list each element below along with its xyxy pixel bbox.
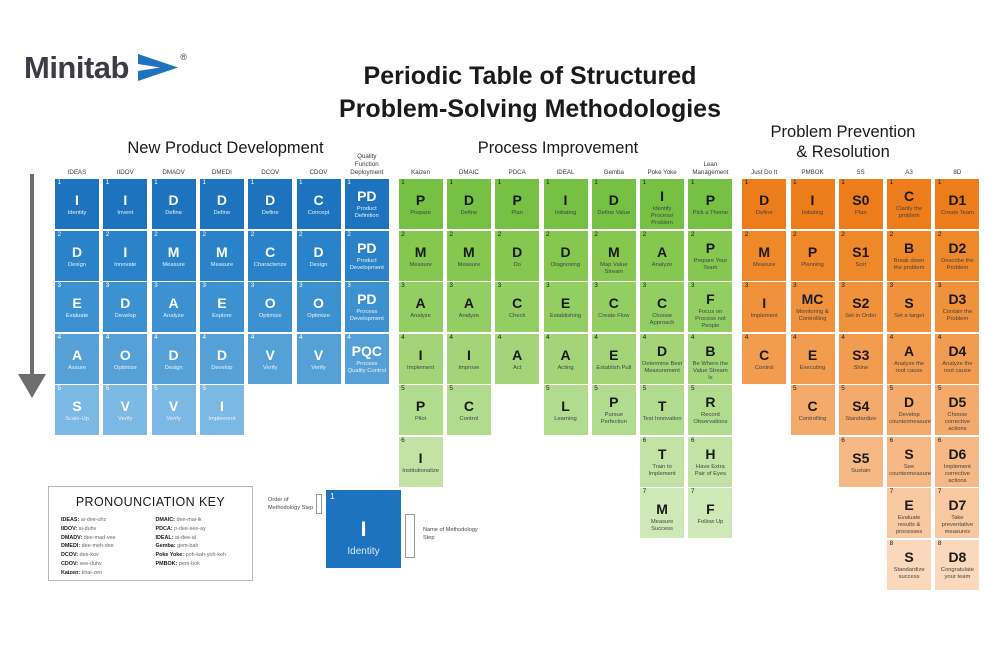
cell-step-name: Analyze <box>449 313 489 320</box>
cell-symbol: A <box>889 344 929 358</box>
pronunciation-term: DMEDI: <box>61 543 80 549</box>
methodology-cell[interactable]: 3AAnalyze <box>447 282 491 332</box>
pronunciation-term: PMBOK: <box>156 561 178 567</box>
cell-step-number: 3 <box>251 283 255 290</box>
cell-symbol: A <box>642 245 682 259</box>
cell-symbol: R <box>690 395 730 409</box>
methodology-cell[interactable]: 2DDo <box>495 231 539 281</box>
cell-step-name: Define Value <box>594 210 634 217</box>
cell-symbol: E <box>546 296 586 310</box>
cell-step-name: Design <box>154 365 194 372</box>
cell-symbol: I <box>57 193 97 207</box>
cell-symbol: M <box>154 245 194 259</box>
methodology-cell[interactable]: 5VVerify <box>152 385 196 435</box>
pronunciation-phonetic: gem-bah <box>176 543 199 549</box>
cell-step-number: 2 <box>890 232 894 239</box>
cell-step-number: 8 <box>890 541 894 548</box>
cell-step-number: 5 <box>154 386 158 393</box>
methodology-cell[interactable]: 7EEvaluate results & processes <box>887 488 931 538</box>
methodology-cell[interactable]: 2MMeasure <box>152 231 196 281</box>
methodology-cell[interactable]: 4AAct <box>495 334 539 384</box>
cell-step-number: 6 <box>938 438 942 445</box>
cell-step-number: 5 <box>938 386 942 393</box>
cell-step-name: Sort <box>841 262 881 269</box>
methodology-cell[interactable]: 1IIdentify Process/ Problem <box>640 179 684 229</box>
methodology-cell[interactable]: 6IInstitutionalize <box>399 437 443 487</box>
cell-step-name: Verify <box>250 365 290 372</box>
cell-step-name: Test Innovation <box>642 416 682 423</box>
methodology-cell[interactable]: 2DDiagnosing <box>544 231 588 281</box>
cell-step-number: 2 <box>745 232 749 239</box>
cell-step-name: Institutionalize <box>401 468 441 475</box>
cell-symbol: D <box>889 395 929 409</box>
methodology-column-a3: A31CClarify the problem2BBreak down the … <box>887 157 931 591</box>
column-cells: 1IIdentify Process/ Problem2AAnalyze3CCh… <box>640 179 684 540</box>
cell-symbol: L <box>546 399 586 413</box>
cell-step-number: 4 <box>546 335 550 342</box>
column-header: CDOV <box>297 157 341 179</box>
methodology-cell[interactable]: 1DDefine <box>200 179 244 229</box>
methodology-cell[interactable]: 2BBreak down the problem <box>887 231 931 281</box>
cell-step-name: Executing <box>793 365 833 372</box>
methodology-cell[interactable]: 3OOptimize <box>248 282 292 332</box>
cell-step-name: Standardize success <box>889 567 929 581</box>
cell-step-number: 5 <box>793 386 797 393</box>
methodology-cell[interactable]: 1PDProduct Definition <box>345 179 389 229</box>
cell-symbol: D4 <box>937 344 977 358</box>
methodology-cell[interactable]: 6D6Implement corrective actions <box>935 437 979 487</box>
cell-symbol: S <box>889 550 929 564</box>
methodology-cell[interactable]: 1IInitiating <box>544 179 588 229</box>
column-header: 5S <box>839 157 883 179</box>
methodology-cell[interactable]: 4BBe Where the Value Stream Is <box>688 334 732 384</box>
cell-step-name: Design <box>299 262 339 269</box>
methodology-cell[interactable]: 3CCheck <box>495 282 539 332</box>
methodology-column-dmaic: DMAIC1DDefine2MMeasure3AAnalyze4IImprove… <box>447 157 491 437</box>
legend-sample-cell: 1 I Identity <box>326 490 401 568</box>
methodology-cell[interactable]: 2PPrepare Your Team <box>688 231 732 281</box>
cell-step-name: Pursue Perfection <box>594 412 634 426</box>
methodology-cell[interactable]: 3DDevelop <box>103 282 147 332</box>
methodology-cell[interactable]: 4CControl <box>742 334 786 384</box>
methodology-cell[interactable]: 4AAssure <box>55 334 99 384</box>
pronunciation-row: DMADV: dee-mad-vee <box>61 534 146 543</box>
column-header: DMEDI <box>200 157 244 179</box>
methodology-cell[interactable]: 1DDefine <box>742 179 786 229</box>
methodology-cell[interactable]: 5TTest Innovation <box>640 385 684 435</box>
cell-step-number: 7 <box>938 489 942 496</box>
column-header: PMBOK <box>791 157 835 179</box>
cell-step-name: Invent <box>105 210 145 217</box>
cell-symbol: V <box>299 348 339 362</box>
cell-symbol: S1 <box>841 245 881 259</box>
methodology-cell[interactable]: 2AAnalyze <box>640 231 684 281</box>
methodology-cell[interactable]: 5PPursue Perfection <box>592 385 636 435</box>
column-cells: 1DDefine2CCharacterize3OOptimize4VVerify <box>248 179 292 385</box>
methodology-cell[interactable]: 5LLearning <box>544 385 588 435</box>
cell-step-number: 3 <box>890 283 894 290</box>
cell-step-number: 1 <box>745 180 749 187</box>
arrow-head <box>18 374 46 398</box>
cell-symbol: PD <box>347 292 387 306</box>
methodology-column-dmadv: DMADV1DDefine2MMeasure3AAnalyze4DDesign5… <box>152 157 196 437</box>
cell-step-name: Define <box>202 210 242 217</box>
methodology-cell[interactable]: 7FFollow Up <box>688 488 732 538</box>
cell-step-number: 2 <box>449 232 453 239</box>
methodology-cell[interactable]: 1S0Plan <box>839 179 883 229</box>
methodology-cell[interactable]: 4EEstablish Pull <box>592 334 636 384</box>
cell-symbol: P <box>793 245 833 259</box>
methodology-cell[interactable]: 3EExplore <box>200 282 244 332</box>
methodology-cell[interactable]: 7MMeasure Success <box>640 488 684 538</box>
methodology-cell[interactable]: 1CClarify the problem <box>887 179 931 229</box>
methodology-cell[interactable]: 1PPlan <box>495 179 539 229</box>
cell-step-number: 1 <box>154 180 158 187</box>
cell-step-name: Control <box>449 416 489 423</box>
cell-step-name: Take preventative measures <box>937 515 977 536</box>
methodology-cell[interactable]: 6TTrain to Implement <box>640 437 684 487</box>
cell-step-name: Design <box>57 262 97 269</box>
methodology-cell[interactable]: 1IIdentity <box>55 179 99 229</box>
cell-step-number: 4 <box>691 335 695 342</box>
cell-symbol: D <box>105 296 145 310</box>
column-header: A3 <box>887 157 931 179</box>
cell-step-name: Process Quality Control <box>347 361 387 375</box>
methodology-cell[interactable]: 4VVerify <box>297 334 341 384</box>
cell-symbol: C <box>449 399 489 413</box>
cell-step-name: Clarify the problem <box>889 206 929 220</box>
methodology-cell[interactable]: 4EExecuting <box>791 334 835 384</box>
methodology-cell[interactable]: 1IInvent <box>103 179 147 229</box>
pronunciation-phonetic: poh-kah-yoh-keh <box>184 552 226 558</box>
methodology-column-cdov: CDOV1CConcept2DDesign3OOptimize4VVerify <box>297 157 341 385</box>
cell-symbol: D <box>449 193 489 207</box>
methodology-cell[interactable]: 1DDefine <box>248 179 292 229</box>
column-cells: 1DDefine2MMeasure3IImplement4CControl <box>742 179 786 385</box>
cell-step-name: Controlling <box>793 416 833 423</box>
cell-step-name: Analyze the root cause <box>937 361 977 375</box>
cell-step-number: 3 <box>691 283 695 290</box>
cell-step-name: Analyze <box>154 313 194 320</box>
methodology-cell[interactable]: 2DDesign <box>297 231 341 281</box>
methodology-cell[interactable]: 5CControlling <box>791 385 835 435</box>
cell-symbol: PD <box>347 241 387 255</box>
cell-step-name: Do <box>497 262 537 269</box>
methodology-column-pmbok: PMBOK1IInitiating2PPlanning3MCMonitoring… <box>791 157 835 437</box>
cell-step-number: 5 <box>106 386 110 393</box>
methodology-column-dmedi: DMEDI1DDefine2MMeasure3EExplore4DDevelop… <box>200 157 244 437</box>
cell-step-name: Develop <box>202 365 242 372</box>
methodology-cell[interactable]: 5RRecord Observations <box>688 385 732 435</box>
methodology-cell[interactable]: 1DDefine Value <box>592 179 636 229</box>
methodology-cell[interactable]: 5DDevelop countermeasures <box>887 385 931 435</box>
cell-symbol: H <box>690 447 730 461</box>
page-title-line2: Problem-Solving Methodologies <box>330 93 730 126</box>
cell-step-name: Train to Implement <box>642 464 682 478</box>
column-cells: 1DDefine2MMeasure3AAnalyze4DDesign5VVeri… <box>152 179 196 437</box>
cell-symbol: MC <box>793 292 833 306</box>
down-arrow-icon <box>18 174 46 398</box>
methodology-cell[interactable]: 2MMeasure <box>399 231 443 281</box>
column-header: Quality Function Deployment <box>345 157 389 179</box>
methodology-cell[interactable]: 4S3Shine <box>839 334 883 384</box>
methodology-cell[interactable]: 1PPrepare <box>399 179 443 229</box>
cell-step-name: Prepare Your Team <box>690 258 730 272</box>
cell-symbol: A <box>57 348 97 362</box>
methodology-column-5s: 5S1S0Plan2S1Sort3S2Set in Order4S3Shine5… <box>839 157 883 488</box>
section-heading-process-improvement: Process Improvement <box>393 138 723 158</box>
methodology-cell[interactable]: 6S5Sustain <box>839 437 883 487</box>
cell-step-number: 7 <box>691 489 695 496</box>
methodology-column-just-do-it: Just Do It1DDefine2MMeasure3IImplement4C… <box>742 157 786 385</box>
methodology-cell[interactable]: 3PDProcess Development <box>345 282 389 332</box>
cell-step-name: Act <box>497 365 537 372</box>
cell-symbol: S3 <box>841 348 881 362</box>
cell-symbol: P <box>497 193 537 207</box>
methodology-cell[interactable]: 2MMeasure <box>447 231 491 281</box>
methodology-cell[interactable]: 3CCreate Flow <box>592 282 636 332</box>
methodology-cell[interactable]: 3IImplement <box>742 282 786 332</box>
cell-symbol: D <box>57 245 97 259</box>
minitab-logo: Minitab ® <box>24 52 178 83</box>
methodology-cell[interactable]: 3EEstablishing <box>544 282 588 332</box>
cell-step-name: Plan <box>497 210 537 217</box>
cell-step-name: Set a target <box>889 313 929 320</box>
cell-symbol: S <box>889 447 929 461</box>
cell-step-number: 3 <box>58 283 62 290</box>
cell-step-name: Optimize <box>250 313 290 320</box>
cell-step-name: Implement corrective actions <box>937 464 977 485</box>
cell-step-number: 2 <box>106 232 110 239</box>
cell-step-name: Verify <box>299 365 339 372</box>
column-cells: 1PDProduct Definition2PDProduct Developm… <box>345 179 389 385</box>
legend-name-label: Name of Methodology Step <box>423 526 479 542</box>
methodology-cell[interactable]: 1D1Create Team <box>935 179 979 229</box>
methodology-cell[interactable]: 6HHave Extra Pair of Eyes <box>688 437 732 487</box>
column-cells: 1DDefine2MMeasure3AAnalyze4IImprove5CCon… <box>447 179 491 437</box>
methodology-cell[interactable]: 2MMap Value Stream <box>592 231 636 281</box>
cell-step-name: Contain the Problem <box>937 309 977 323</box>
pronunciation-row: IIDOV: ai-duhv <box>61 525 146 534</box>
cell-step-name: Sustain <box>841 468 881 475</box>
methodology-cell[interactable]: 2PDProduct Development <box>345 231 389 281</box>
cell-symbol: PQC <box>347 344 387 358</box>
methodology-cell[interactable]: 5SScale-Up <box>55 385 99 435</box>
methodology-cell[interactable]: 3FFocus on Process not People <box>688 282 732 332</box>
cell-step-name: Learning <box>546 416 586 423</box>
methodology-cell[interactable]: 5CControl <box>447 385 491 435</box>
cell-symbol: S <box>57 399 97 413</box>
cell-step-number: 2 <box>841 232 845 239</box>
cell-step-name: Optimize <box>299 313 339 320</box>
cell-step-number: 3 <box>643 283 647 290</box>
cell-step-name: Be Where the Value Stream Is <box>690 361 730 382</box>
cell-symbol: A <box>154 296 194 310</box>
methodology-cell[interactable]: 6SSee countermeasures <box>887 437 931 487</box>
pronunciation-row: PDCA: p-dee-see-ay <box>156 525 241 534</box>
cell-symbol: I <box>105 193 145 207</box>
cell-symbol: M <box>744 245 784 259</box>
cell-step-number: 4 <box>299 335 303 342</box>
methodology-cell[interactable]: 4VVerify <box>248 334 292 384</box>
methodology-cell[interactable]: 4PQCProcess Quality Control <box>345 334 389 384</box>
methodology-cell[interactable]: 3OOptimize <box>297 282 341 332</box>
cell-step-number: 1 <box>202 180 206 187</box>
cell-symbol: C <box>642 296 682 310</box>
pronunciation-row: Poke Yoke: poh-kah-yoh-keh <box>156 551 241 560</box>
cell-symbol: D <box>299 245 339 259</box>
cell-step-name: Concept <box>299 210 339 217</box>
section-heading-ppr-line1: Problem Prevention <box>718 122 968 142</box>
cell-step-number: 1 <box>251 180 255 187</box>
methodology-cell[interactable]: 7D7Take preventative measures <box>935 488 979 538</box>
column-header: IDEAL <box>544 157 588 179</box>
methodology-cell[interactable]: 1PPick a Theme <box>688 179 732 229</box>
column-header: DMAIC <box>447 157 491 179</box>
cell-step-number: 1 <box>793 180 797 187</box>
methodology-cell[interactable]: 4DDetermine Best Measurement <box>640 334 684 384</box>
methodology-cell[interactable]: 2IInnovate <box>103 231 147 281</box>
cell-step-name: Verify <box>105 416 145 423</box>
cell-step-number: 2 <box>154 232 158 239</box>
cell-step-number: 4 <box>449 335 453 342</box>
methodology-cell[interactable]: 3D3Contain the Problem <box>935 282 979 332</box>
methodology-cell[interactable]: 3SSet a target <box>887 282 931 332</box>
methodology-cell[interactable]: 1CConcept <box>297 179 341 229</box>
cell-symbol: D <box>497 245 537 259</box>
cell-step-number: 1 <box>890 180 894 187</box>
cell-symbol: S5 <box>841 451 881 465</box>
pronunciation-phonetic: dee-kov <box>78 552 99 558</box>
column-cells: 1S0Plan2S1Sort3S2Set in Order4S3Shine5S4… <box>839 179 883 488</box>
methodology-cell[interactable]: 4OOptimize <box>103 334 147 384</box>
methodology-cell[interactable]: 2DDesign <box>55 231 99 281</box>
methodology-cell[interactable]: 2D2Describe the Problem <box>935 231 979 281</box>
cell-step-name: Implement <box>202 416 242 423</box>
cell-symbol: V <box>154 399 194 413</box>
pronunciation-phonetic: khai-zen <box>80 570 102 576</box>
methodology-cell[interactable]: 5D5Choose corrective actions <box>935 385 979 435</box>
column-cells: 1D1Create Team2D2Describe the Problem3D3… <box>935 179 979 591</box>
cell-step-number: 4 <box>251 335 255 342</box>
cell-step-number: 5 <box>546 386 550 393</box>
methodology-cell[interactable]: 2MMeasure <box>200 231 244 281</box>
pronunciation-phonetic: ai-dee-al <box>173 535 195 541</box>
column-cells: 1DDefine Value2MMap Value Stream3CCreate… <box>592 179 636 437</box>
methodology-cell[interactable]: 4D4Analyze the root cause <box>935 334 979 384</box>
methodology-cell[interactable]: 3AAnalyze <box>152 282 196 332</box>
cell-step-number: 5 <box>643 386 647 393</box>
methodology-cell[interactable]: 1DDefine <box>152 179 196 229</box>
methodology-cell[interactable]: 3AAnalyze <box>399 282 443 332</box>
methodology-cell[interactable]: 4IImplement <box>399 334 443 384</box>
cell-step-number: 5 <box>841 386 845 393</box>
methodology-cell[interactable]: 4AAnalyze the root cause <box>887 334 931 384</box>
methodology-cell[interactable]: 3S2Set in Order <box>839 282 883 332</box>
methodology-cell[interactable]: 8SStandardize success <box>887 540 931 590</box>
methodology-cell[interactable]: 2MMeasure <box>742 231 786 281</box>
cell-step-number: 4 <box>841 335 845 342</box>
methodology-cell[interactable]: 4AActing <box>544 334 588 384</box>
cell-symbol: M <box>449 245 489 259</box>
pronunciation-term: PDCA: <box>156 526 173 532</box>
cell-step-name: Identify Process/ Problem <box>642 206 682 227</box>
cell-step-number: 2 <box>546 232 550 239</box>
column-cells: 1IIdentity2DDesign3EEvaluate4AAssure5SSc… <box>55 179 99 437</box>
pronunciation-phonetic: dee-mai-ik <box>175 517 202 523</box>
methodology-cell[interactable]: 2CCharacterize <box>248 231 292 281</box>
methodology-cell[interactable]: 5VVerify <box>103 385 147 435</box>
cell-step-number: 4 <box>643 335 647 342</box>
column-cells: 1DDefine2MMeasure3EExplore4DDevelop5IImp… <box>200 179 244 437</box>
methodology-column-ideas: IDEAS1IIdentity2DDesign3EEvaluate4AAssur… <box>55 157 99 437</box>
cell-step-name: Analyze <box>642 262 682 269</box>
methodology-cell[interactable]: 5PPilot <box>399 385 443 435</box>
cell-step-number: 2 <box>299 232 303 239</box>
cell-symbol: E <box>202 296 242 310</box>
cell-step-name: Control <box>744 365 784 372</box>
cell-step-number: 4 <box>793 335 797 342</box>
cell-step-number: 2 <box>202 232 206 239</box>
pronunciation-row: IDEAL: ai-dee-al <box>156 534 241 543</box>
cell-step-number: 6 <box>691 438 695 445</box>
column-cells: 1IInvent2IInnovate3DDevelop4OOptimize5VV… <box>103 179 147 437</box>
methodology-column-iidov: IIDOV1IInvent2IInnovate3DDevelop4OOptimi… <box>103 157 147 437</box>
cell-step-name: Shine <box>841 365 881 372</box>
cell-step-number: 2 <box>793 232 797 239</box>
cell-step-number: 5 <box>449 386 453 393</box>
cell-symbol: I <box>105 245 145 259</box>
methodology-cell[interactable]: 1DDefine <box>447 179 491 229</box>
cell-step-number: 3 <box>546 283 550 290</box>
cell-step-number: 5 <box>58 386 62 393</box>
cell-step-number: 5 <box>401 386 405 393</box>
methodology-cell[interactable]: 3MCMonitoring & Controlling <box>791 282 835 332</box>
cell-step-name: Scale-Up <box>57 416 97 423</box>
methodology-cell[interactable]: 3EEvaluate <box>55 282 99 332</box>
methodology-cell[interactable]: 4IImprove <box>447 334 491 384</box>
methodology-column-8d: 8D1D1Create Team2D2Describe the Problem3… <box>935 157 979 591</box>
cell-step-name: See countermeasures <box>889 464 929 478</box>
methodology-cell[interactable]: 3CChoose Approach <box>640 282 684 332</box>
cell-symbol: D <box>642 344 682 358</box>
cell-symbol: D <box>154 348 194 362</box>
cell-symbol: M <box>642 502 682 516</box>
cell-symbol: A <box>497 348 537 362</box>
cell-step-number: 2 <box>251 232 255 239</box>
methodology-cell[interactable]: 1IInitiating <box>791 179 835 229</box>
cell-step-name: Check <box>497 313 537 320</box>
pronunciation-row: DMEDI: dee-meh-dee <box>61 542 146 551</box>
methodology-cell[interactable]: 4DDevelop <box>200 334 244 384</box>
column-header: 8D <box>935 157 979 179</box>
cell-step-number: 3 <box>106 283 110 290</box>
methodology-cell[interactable]: 2S1Sort <box>839 231 883 281</box>
cell-step-number: 1 <box>643 180 647 187</box>
cell-step-name: Develop countermeasures <box>889 412 929 426</box>
methodology-cell[interactable]: 5S4Standardize <box>839 385 883 435</box>
legend-sample-symbol: I <box>330 519 397 540</box>
cell-symbol: P <box>690 193 730 207</box>
methodology-cell[interactable]: 5IImplement <box>200 385 244 435</box>
cell-step-number: 2 <box>401 232 405 239</box>
methodology-cell[interactable]: 2PPlanning <box>791 231 835 281</box>
cell-step-name: Innovate <box>105 262 145 269</box>
methodology-cell[interactable]: 8D8Congratulate your team <box>935 540 979 590</box>
cell-step-name: Establish Pull <box>594 365 634 372</box>
cell-symbol: E <box>57 296 97 310</box>
methodology-cell[interactable]: 4DDesign <box>152 334 196 384</box>
